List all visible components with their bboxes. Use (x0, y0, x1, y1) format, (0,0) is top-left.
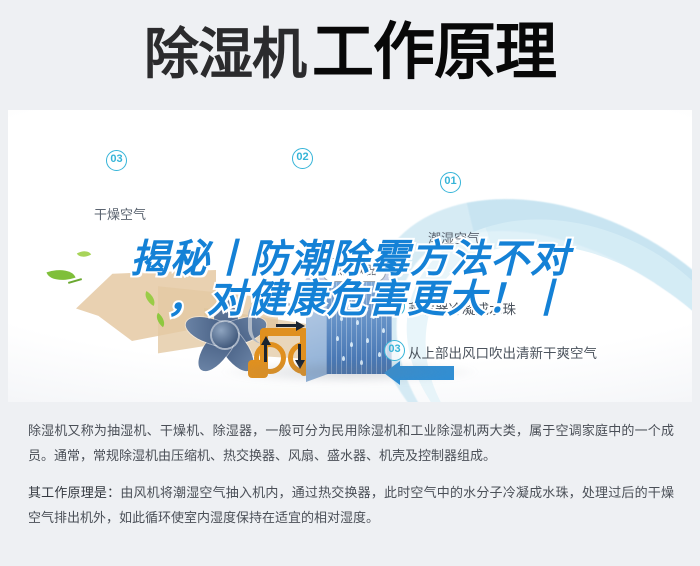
overlay-headline-line1: 揭秘丨防潮除霉方法不对 (0, 240, 700, 280)
panel-drop-shadow (170, 355, 530, 389)
overlay-headline-line2: ，对健康危害更大！丨 (0, 280, 700, 320)
badge-03-dry-air: 03 (106, 150, 127, 171)
overlay-headline: 揭秘丨防潮除霉方法不对 ，对健康危害更大！丨 (0, 240, 700, 320)
body-paragraph-2-lead: 其工作原理是： (28, 485, 120, 500)
page-title: 除湿机工作原理 (0, 22, 700, 84)
body-paragraph-2-rest: 由风机将潮湿空气抽入机内，通过热交换器，此时空气中的水分子冷凝成水珠，处理过后的… (28, 485, 674, 525)
page-title-part1: 除湿机 (144, 23, 306, 85)
badge-01-humid-air: 01 (440, 172, 461, 193)
page-title-part2: 工作原理 (312, 18, 556, 87)
body-copy: 除湿机又称为抽湿机、干燥机、除湿器，一般可分为民用除湿机和工业除湿机两大类，属于… (28, 418, 674, 542)
body-paragraph-2: 其工作原理是：由风机将潮湿空气抽入机内，通过热交换器，此时空气中的水分子冷凝成水… (28, 480, 674, 530)
body-paragraph-1: 除湿机又称为抽湿机、干燥机、除湿器，一般可分为民用除湿机和工业除湿机两大类，属于… (28, 418, 674, 468)
badge-02-heat-exchanger: 02 (292, 148, 313, 169)
header: 除湿机工作原理 (0, 0, 700, 118)
label-dry-air: 干燥空气 (94, 204, 146, 223)
infographic-page: 除湿机工作原理 (0, 0, 700, 566)
